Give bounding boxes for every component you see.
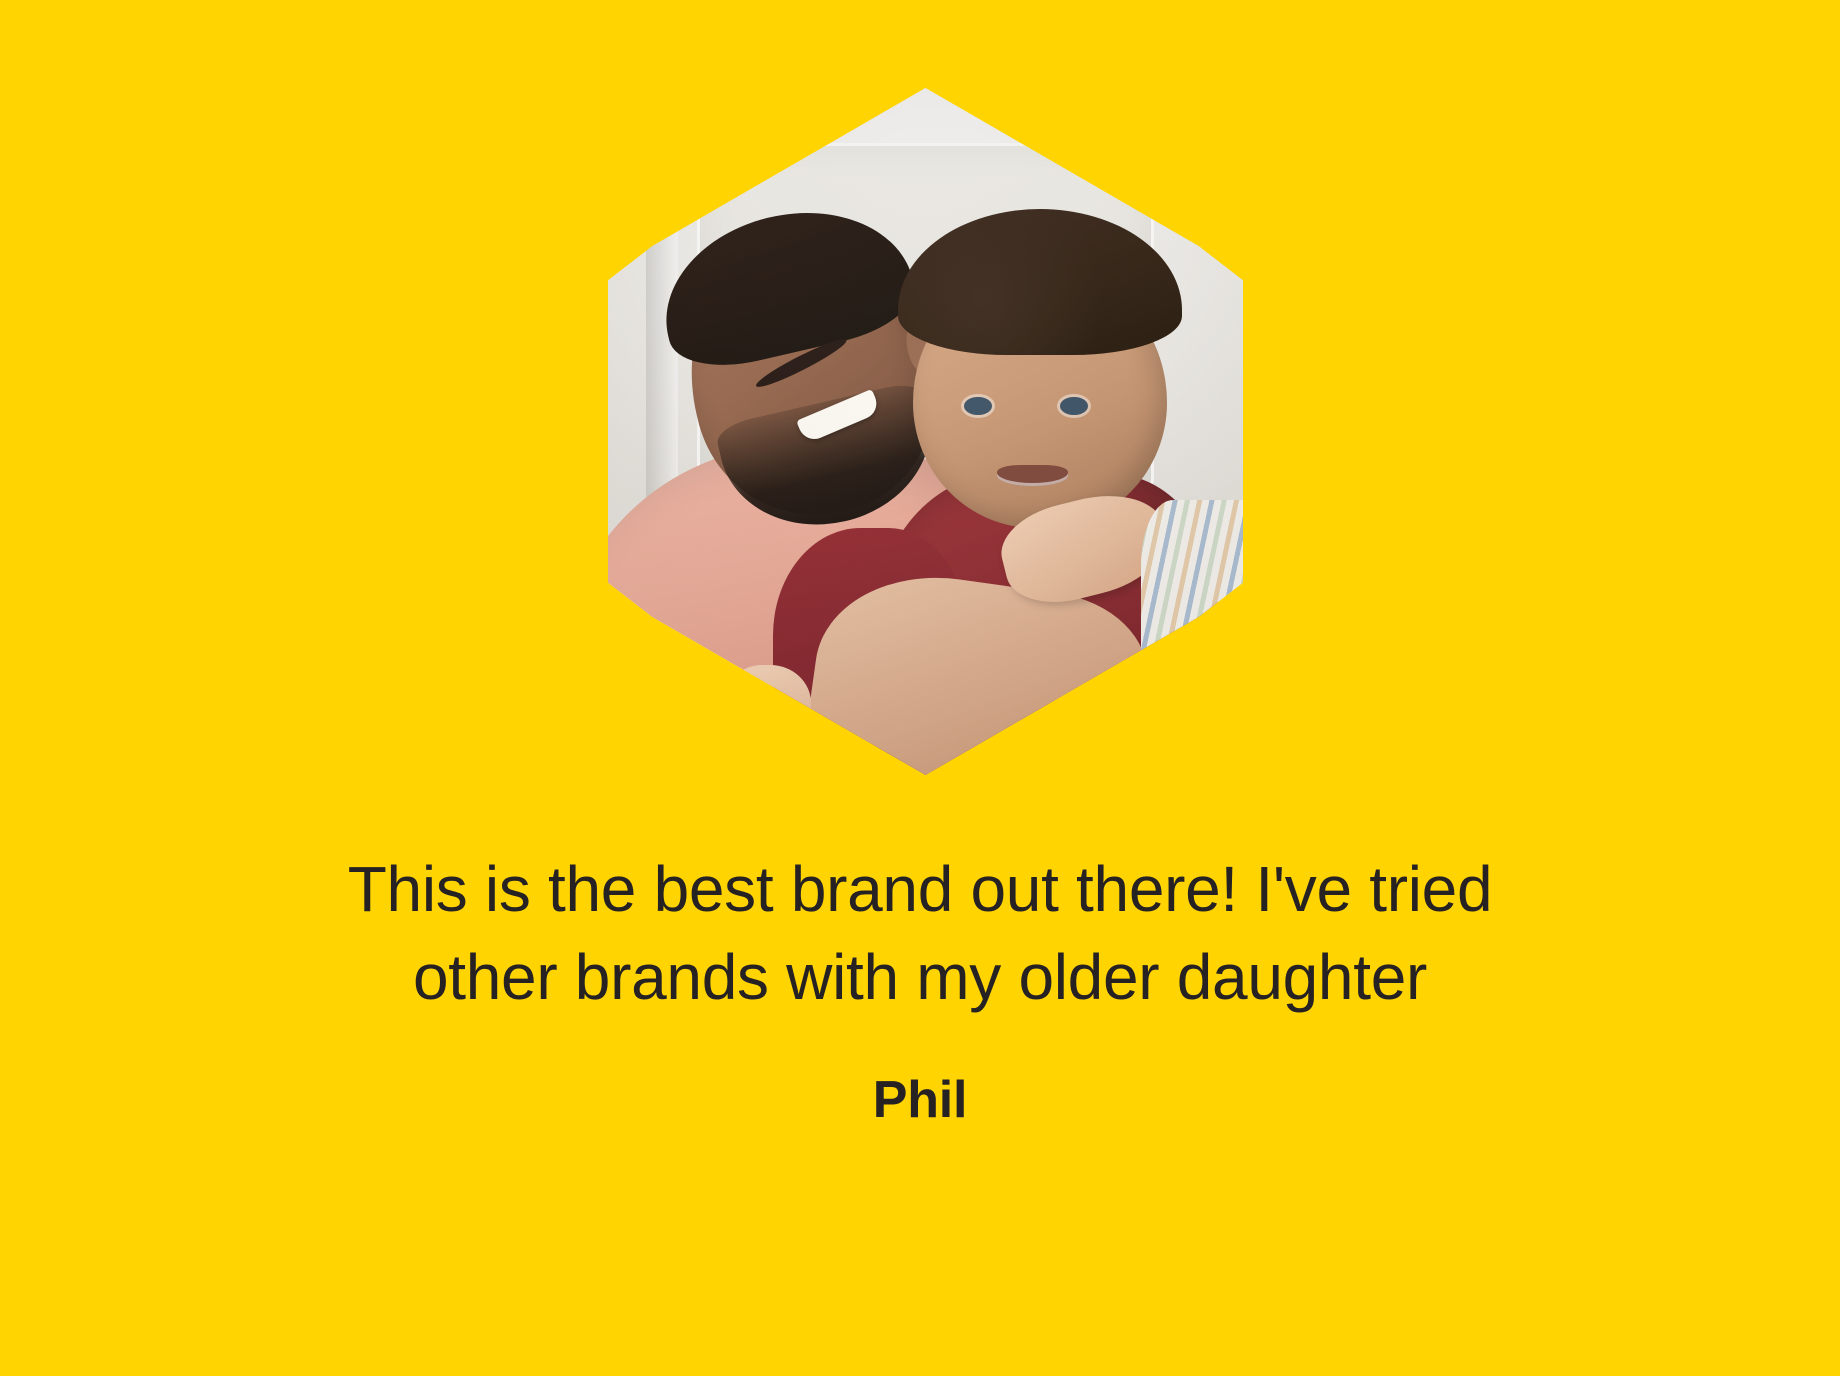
testimonial-card: This is the best brand out there! I've t… xyxy=(0,0,1840,1376)
quote-line-2: other brands with my older daughter xyxy=(0,933,1840,1021)
avatar xyxy=(608,88,1243,775)
testimonial-photo xyxy=(608,88,1243,775)
testimonial-quote: This is the best brand out there! I've t… xyxy=(0,845,1840,1021)
hexagon-photo-frame xyxy=(608,88,1243,775)
testimonial-author: Phil xyxy=(0,1068,1840,1132)
quote-line-1: This is the best brand out there! I've t… xyxy=(0,845,1840,933)
photo-vignette xyxy=(608,88,1243,775)
